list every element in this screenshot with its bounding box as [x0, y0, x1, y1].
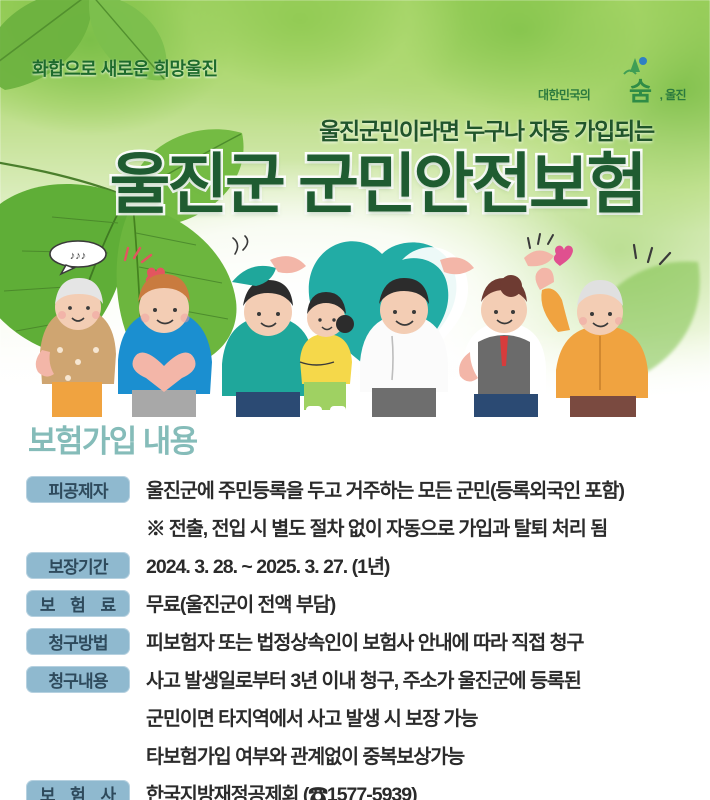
brand-mark-decoration [622, 54, 652, 81]
insurance-details-list: 피공제자울진군에 주민등록을 두고 거주하는 모든 군민(등록외국인 포함)※ … [26, 474, 710, 800]
detail-value-text: 무료(울진군이 전액 부담) [130, 588, 710, 623]
page-title: 울진군 군민안전보험 [0, 150, 710, 219]
uljin-brand-logo: 대한민국의 숨 , 울진 [538, 53, 688, 105]
detail-row: 청구내용사고 발생일로부터 3년 이내 청구, 주소가 울진군에 등록된 [26, 664, 710, 699]
detail-label-badge: 보 험 료 [26, 590, 130, 617]
brand-prefix-text: 대한민국의 [538, 86, 590, 103]
detail-label-badge: 청구내용 [26, 666, 130, 693]
detail-value-text: 피보험자 또는 법정상속인이 보험사 안내에 따라 직접 청구 [130, 626, 710, 661]
detail-row: 보 험 료무료(울진군이 전액 부담) [26, 588, 710, 623]
detail-label-badge: 피공제자 [26, 476, 130, 503]
detail-label-badge: 청구방법 [26, 628, 130, 655]
detail-label-spacer [26, 702, 130, 703]
svg-text:♪♪♪: ♪♪♪ [70, 250, 87, 262]
detail-row: 청구방법피보험자 또는 법정상속인이 보험사 안내에 따라 직접 청구 [26, 626, 710, 661]
detail-value-text: ※ 전출, 전입 시 별도 절차 없이 자동으로 가입과 탈퇴 처리 됨 [130, 512, 710, 547]
detail-label-badge: 보장기간 [26, 552, 130, 579]
family-illustration: ♪♪♪ [0, 232, 710, 417]
poster-root: 화합으로 새로운 희망울진 대한민국의 숨 , 울진 울진군민이라면 누구나 자… [0, 0, 710, 800]
detail-value-text: 사고 발생일로부터 3년 이내 청구, 주소가 울진군에 등록된 [130, 664, 710, 699]
detail-label-badge: 보 험 사 [26, 780, 130, 800]
section-heading: 보험가입 내용 [28, 416, 197, 461]
detail-value-text: 울진군에 주민등록을 두고 거주하는 모든 군민(등록외국인 포함) [130, 474, 710, 509]
brand-mark-text: 숨 [629, 80, 652, 105]
detail-label-spacer [26, 512, 130, 513]
detail-row: 보장기간2024. 3. 28. ~ 2025. 3. 27. (1년) [26, 550, 710, 585]
figure-young-man-blue [118, 274, 212, 417]
detail-row: 타보험가입 여부와 관계없이 중복보상가능 [26, 740, 710, 775]
slogan-text: 화합으로 새로운 희망울진 [32, 55, 218, 81]
detail-value-text: 타보험가입 여부와 관계없이 중복보상가능 [130, 740, 710, 775]
figure-elderly-man-orange [535, 268, 648, 417]
detail-value-text: 군민이면 타지역에서 사고 발생 시 보장 가능 [130, 702, 710, 737]
detail-row: 보 험 사한국지방재정공제회 (☎1577-5939) [26, 778, 710, 800]
brand-suffix-text: , 울진 [660, 86, 686, 103]
detail-row: ※ 전출, 전입 시 별도 절차 없이 자동으로 가입과 탈퇴 처리 됨 [26, 512, 710, 547]
detail-row: 군민이면 타지역에서 사고 발생 시 보장 가능 [26, 702, 710, 737]
detail-row: 피공제자울진군에 주민등록을 두고 거주하는 모든 군민(등록외국인 포함) [26, 474, 710, 509]
speech-bubble: ♪♪♪ [50, 241, 106, 274]
detail-value-text: 한국지방재정공제회 (☎1577-5939) [130, 778, 710, 800]
detail-label-spacer [26, 740, 130, 741]
subtitle-text: 울진군민이라면 누구나 자동 가입되는 [0, 112, 690, 146]
figure-elderly-woman [36, 278, 116, 417]
detail-value-text: 2024. 3. 28. ~ 2025. 3. 27. (1년) [130, 550, 710, 585]
figure-man-teal [222, 256, 314, 417]
